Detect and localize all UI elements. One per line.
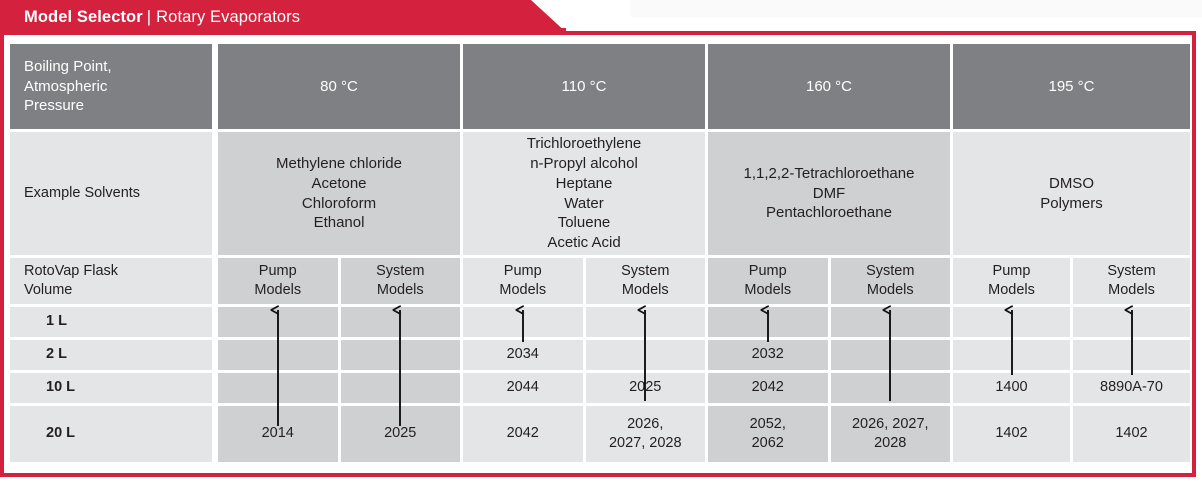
cell-r3-c0: 2014 bbox=[218, 406, 338, 462]
cell-r3-c1: 2025 bbox=[341, 406, 461, 462]
row-label-1: 2 L bbox=[10, 340, 212, 370]
cell-r3-c6: 1402 bbox=[953, 406, 1070, 462]
cell-r1-c2: 2034 bbox=[463, 340, 583, 370]
solvent-list-0: Methylene chloride Acetone Chloroform Et… bbox=[218, 132, 460, 255]
sub-header-6: Pump Models bbox=[953, 258, 1070, 304]
sub-header-7: System Models bbox=[1073, 258, 1190, 304]
cell-r0-c3 bbox=[586, 307, 706, 337]
cell-r3-c7: 1402 bbox=[1073, 406, 1190, 462]
cell-r2-c6: 1400 bbox=[953, 373, 1070, 403]
cell-r2-c3: 2025 bbox=[586, 373, 706, 403]
cell-r0-c5 bbox=[831, 307, 951, 337]
banner-subtitle: Rotary Evaporators bbox=[156, 8, 300, 26]
cell-r3-c3: 2026, 2027, 2028 bbox=[586, 406, 706, 462]
cell-r2-c1 bbox=[341, 373, 461, 403]
cell-r1-c4: 2032 bbox=[708, 340, 828, 370]
sub-header-3: System Models bbox=[586, 258, 706, 304]
cell-r1-c0 bbox=[218, 340, 338, 370]
top-faint-panel bbox=[630, 0, 1202, 17]
cell-r2-c2: 2044 bbox=[463, 373, 583, 403]
cell-r0-c4 bbox=[708, 307, 828, 337]
temperature-header-3: 195 °C bbox=[953, 44, 1190, 129]
cell-r0-c0 bbox=[218, 307, 338, 337]
cell-r0-c2 bbox=[463, 307, 583, 337]
banner-separator: | bbox=[147, 8, 151, 27]
sub-header-5: System Models bbox=[831, 258, 951, 304]
banner-frame-join bbox=[0, 28, 566, 35]
cell-r3-c5: 2026, 2027, 2028 bbox=[831, 406, 951, 462]
temperature-header-2: 160 °C bbox=[708, 44, 950, 129]
cell-r2-c0 bbox=[218, 373, 338, 403]
cell-r1-c7 bbox=[1073, 340, 1190, 370]
cell-r2-c4: 2042 bbox=[708, 373, 828, 403]
row-label-0: 1 L bbox=[10, 307, 212, 337]
solvent-list-1: Trichloroethylene n-Propyl alcohol Hepta… bbox=[463, 132, 705, 255]
cell-r3-c4: 2052, 2062 bbox=[708, 406, 828, 462]
row-label-2: 10 L bbox=[10, 373, 212, 403]
banner-title: Model Selector bbox=[24, 8, 143, 26]
row-label-3: 20 L bbox=[10, 406, 212, 462]
sub-header-0: Pump Models bbox=[218, 258, 338, 304]
temperature-header-0: 80 °C bbox=[218, 44, 460, 129]
banner-title-group: Model Selector|Rotary Evaporators bbox=[24, 8, 300, 27]
solvent-list-2: 1,1,2,2-Tetrachloroethane DMF Pentachlor… bbox=[708, 132, 950, 255]
sub-header-1: System Models bbox=[341, 258, 461, 304]
cell-r3-c2: 2042 bbox=[463, 406, 583, 462]
model-selector-table: Boiling Point, Atmospheric Pressure80 °C… bbox=[10, 44, 1190, 462]
sub-header-4: Pump Models bbox=[708, 258, 828, 304]
solvent-list-3: DMSO Polymers bbox=[953, 132, 1190, 255]
cell-r2-c7: 8890A-70 bbox=[1073, 373, 1190, 403]
cell-r2-c5 bbox=[831, 373, 951, 403]
cell-r1-c1 bbox=[341, 340, 461, 370]
cell-r1-c5 bbox=[831, 340, 951, 370]
cell-r0-c1 bbox=[341, 307, 461, 337]
cell-r0-c7 bbox=[1073, 307, 1190, 337]
rotovap-flask-volume-label: RotoVap Flask Volume bbox=[10, 258, 212, 304]
cell-r1-c3 bbox=[586, 340, 706, 370]
boiling-point-header-cell: Boiling Point, Atmospheric Pressure bbox=[10, 44, 212, 129]
cell-r1-c6 bbox=[953, 340, 1070, 370]
example-solvents-label: Example Solvents bbox=[10, 132, 212, 255]
sub-header-2: Pump Models bbox=[463, 258, 583, 304]
cell-r0-c6 bbox=[953, 307, 1070, 337]
temperature-header-1: 110 °C bbox=[463, 44, 705, 129]
